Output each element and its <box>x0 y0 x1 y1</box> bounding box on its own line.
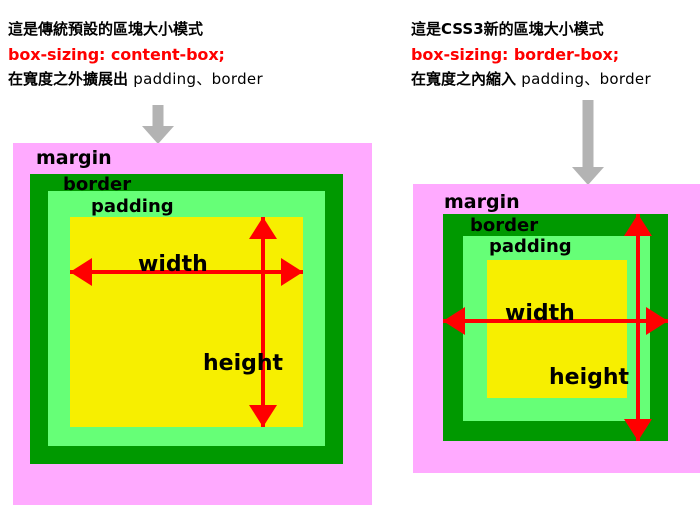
caption-right-line-3-suffix: padding、border <box>521 70 651 88</box>
caption-right-line-3: 在寬度之內縮入 padding、border <box>411 67 651 92</box>
label-padding: padding <box>489 236 572 257</box>
arrow-head-down <box>249 405 277 427</box>
arrow-head-right <box>281 258 303 286</box>
label-margin: margin <box>36 147 112 169</box>
arrow-head-down <box>624 419 652 441</box>
label-padding: padding <box>91 196 174 217</box>
arrow-head-up <box>624 214 652 236</box>
diagram-canvas: 這是傳統預設的區塊大小模式 box-sizing: content-box; 在… <box>0 0 700 514</box>
caption-content-box: 這是傳統預設的區塊大小模式 box-sizing: content-box; 在… <box>8 17 263 92</box>
caption-left-line-3-suffix: padding、border <box>133 70 263 88</box>
caption-left-code: box-sizing: content-box; <box>8 42 263 67</box>
label-height: height <box>203 351 283 376</box>
arrow-head-left <box>70 258 92 286</box>
arrow-head-left <box>443 307 465 335</box>
label-width: width <box>505 301 575 326</box>
arrow-head <box>142 126 174 144</box>
arrow-down-icon <box>142 105 174 144</box>
caption-left-line-1: 這是傳統預設的區塊大小模式 <box>8 17 263 42</box>
height-measure-arrow <box>249 217 277 427</box>
arrow-down-icon <box>572 100 604 185</box>
label-border: border <box>63 174 131 195</box>
arrow-shaft <box>636 214 640 441</box>
caption-left-line-3: 在寬度之外擴展出 padding、border <box>8 67 263 92</box>
arrow-shaft <box>261 217 265 427</box>
arrow-shaft <box>153 105 164 128</box>
arrow-head <box>572 167 604 185</box>
height-measure-arrow <box>624 214 652 441</box>
label-border: border <box>470 215 538 236</box>
caption-right-line-1: 這是CSS3新的區塊大小模式 <box>411 17 651 42</box>
label-width: width <box>138 252 208 277</box>
label-height: height <box>549 365 629 390</box>
label-margin: margin <box>444 191 520 213</box>
arrow-shaft <box>583 100 594 169</box>
caption-border-box: 這是CSS3新的區塊大小模式 box-sizing: border-box; 在… <box>411 17 651 92</box>
arrow-head-up <box>249 217 277 239</box>
caption-left-line-3-prefix: 在寬度之外擴展出 <box>8 70 128 88</box>
caption-right-line-3-prefix: 在寬度之內縮入 <box>411 70 516 88</box>
caption-right-code: box-sizing: border-box; <box>411 42 651 67</box>
